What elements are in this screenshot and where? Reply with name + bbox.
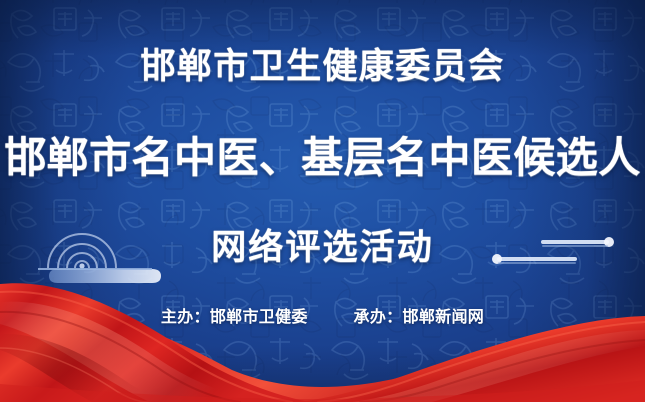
page-title-line-2: 邯郸市名中医、基层名中医候选人 [0,124,645,185]
page-title-line-1: 邯郸市卫生健康委员会 [0,38,645,89]
page-title-line-3: 网络评选活动 [0,219,645,270]
red-silk-ribbon [0,272,645,402]
poster-banner: 邯郸市卫生健康委员会 邯郸市名中医、基层名中医候选人 网络评选活动 主办：邯郸市… [0,0,645,402]
